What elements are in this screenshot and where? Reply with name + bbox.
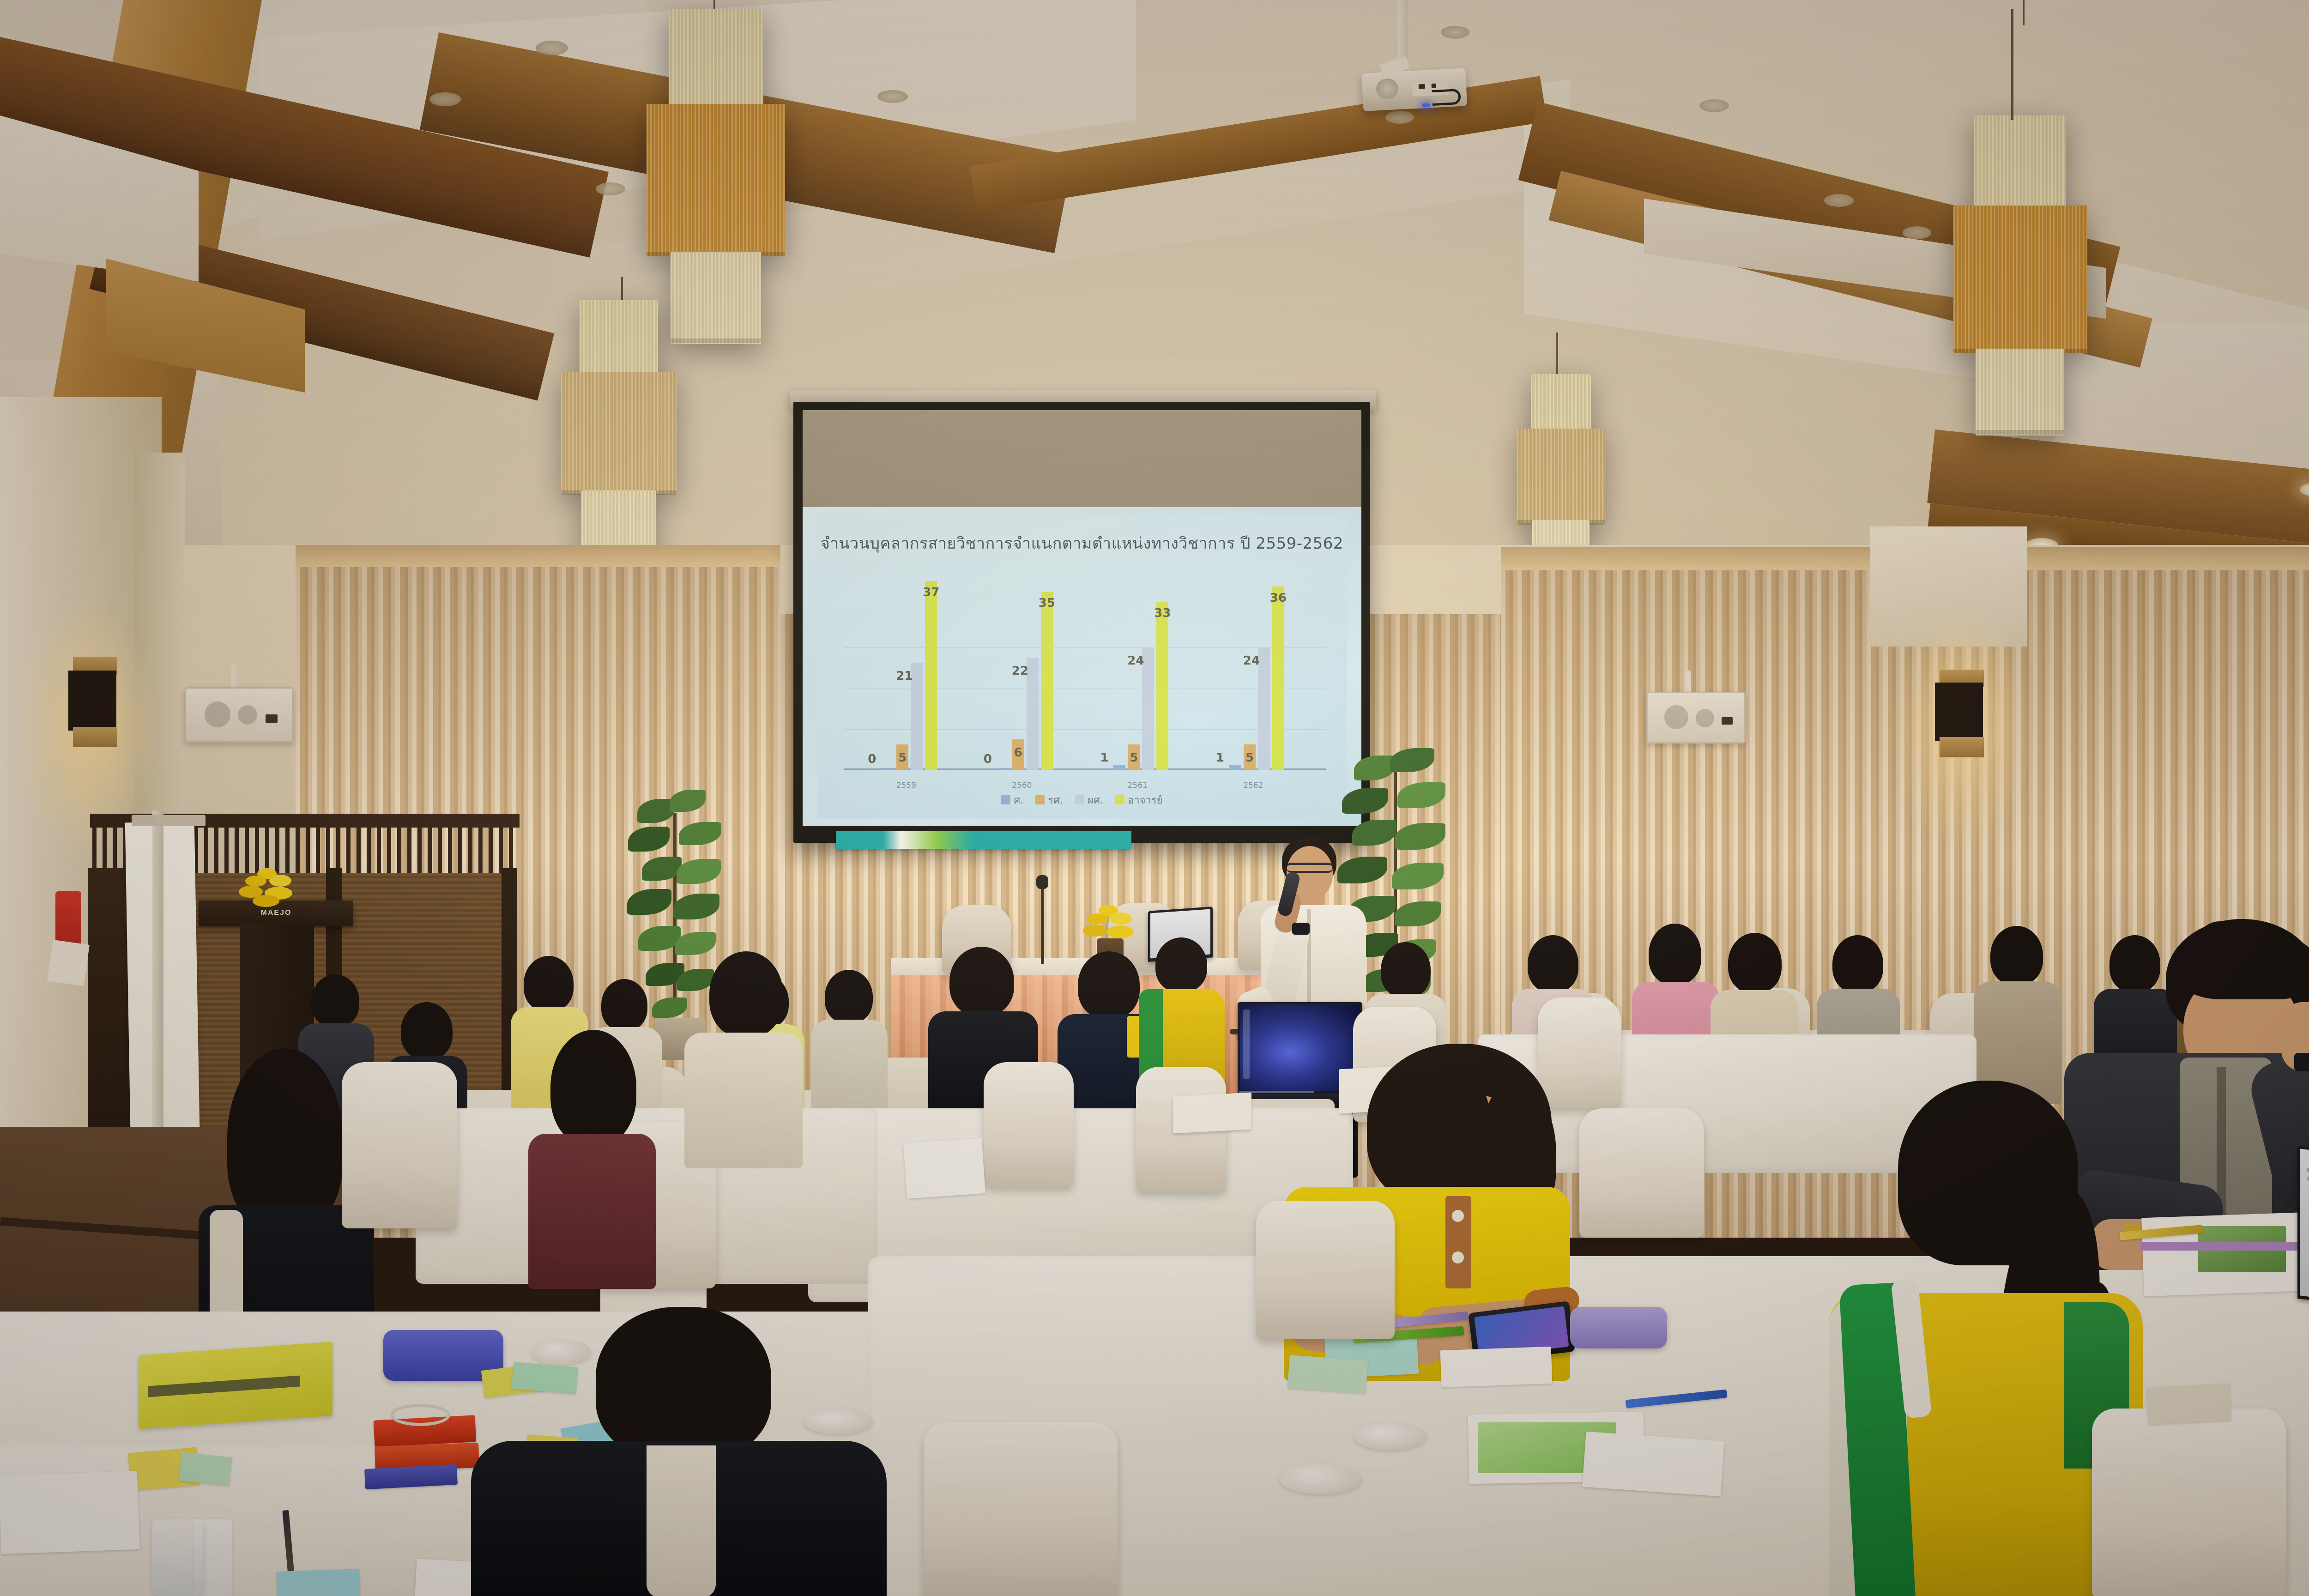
bar-assocprof-2560: 6 xyxy=(1012,739,1024,770)
front-center-shirt xyxy=(647,1445,716,1596)
chair-foreground-2 xyxy=(2092,1409,2286,1596)
audience-person-4 xyxy=(808,970,891,1131)
projected-slide: จำนวนบุคลากรสายวิชาการจำแนกตามตำแหน่งทาง… xyxy=(803,507,1361,826)
bar-lecturer-2561: 33 xyxy=(1156,602,1168,770)
bar-asstprof-2561: 24 xyxy=(1142,647,1154,770)
wall-sconce-left xyxy=(68,657,120,749)
napkin-1 xyxy=(2146,1383,2231,1424)
legend-label-lecturer: อาจารย์ xyxy=(1128,792,1163,808)
legend-swatch-prof xyxy=(1001,795,1010,804)
blouse-button-2 xyxy=(1452,1251,1464,1263)
downlight-4 xyxy=(877,90,908,103)
projector xyxy=(1361,60,1469,116)
bar-group-2559: 0 5 21 37 2559 xyxy=(882,566,937,770)
bar-prof-2562: 1 xyxy=(1229,765,1241,770)
laptop-taskbar-left xyxy=(1243,1010,1250,1079)
purple-case xyxy=(1570,1307,1667,1348)
saucer-4 xyxy=(804,1409,873,1434)
paper-foreground-4 xyxy=(1582,1432,1724,1497)
presenter-wristwatch xyxy=(1292,923,1310,935)
bar-lecturer-2559: 37 xyxy=(925,581,937,770)
wall-notice-paper xyxy=(47,940,90,986)
sticky-note-7 xyxy=(276,1569,361,1596)
bar-group-2562: 1 5 24 36 2562 xyxy=(1229,566,1284,770)
legend-label-asstprof: ผศ. xyxy=(1088,792,1103,808)
laptop-far-right xyxy=(2297,1146,2309,1311)
paper-near-yellow-blouse xyxy=(1440,1347,1553,1387)
pen-holder-ring xyxy=(390,1404,450,1426)
legend-item-asstprof: ผศ. xyxy=(1075,792,1103,808)
legend-swatch-assocprof xyxy=(1035,795,1045,804)
chair-front-left-1 xyxy=(342,1062,457,1228)
bar-prof-2560: 0 xyxy=(998,768,1010,770)
downlight-5 xyxy=(1441,26,1469,39)
bar-lecturer-2560: 35 xyxy=(1041,592,1053,770)
pendant-lamp-3 xyxy=(1953,115,2087,457)
bar-asstprof-2559: 21 xyxy=(911,663,923,770)
front-left-woman-maroon xyxy=(522,1030,660,1288)
podium-flowers xyxy=(237,868,302,910)
chart-plot-area: 0 5 21 37 2559 xyxy=(844,566,1326,770)
front-center-blazer-person xyxy=(471,1307,887,1596)
legend-item-assocprof: รศ. xyxy=(1035,792,1063,808)
slide-canvas: จำนวนบุคลากรสายวิชาการจำแนกตามตำแหน่งทาง… xyxy=(817,514,1347,819)
sticky-note-4 xyxy=(179,1452,232,1486)
bar-asstprof-2560: 22 xyxy=(1027,658,1039,770)
chair-foreground-4 xyxy=(1579,1108,1704,1238)
paper-mid-1 xyxy=(903,1138,985,1199)
chart-legend: ศ. รศ. ผศ. อาจารย์ xyxy=(817,792,1347,808)
downlight-1 xyxy=(536,41,568,55)
saucer-2 xyxy=(1353,1422,1427,1450)
downlight-8 xyxy=(1824,194,1854,207)
pendant-cord-3b xyxy=(2011,9,2013,120)
bar-asstprof-2562: 24 xyxy=(1258,647,1270,770)
audience-person-10 xyxy=(1972,926,2064,1106)
bar-group-2561: 1 5 24 33 2561 xyxy=(1113,566,1168,770)
downlight-7 xyxy=(1699,99,1729,112)
projector-mount-pole xyxy=(1398,0,1408,65)
sticky-note-9 xyxy=(1287,1355,1368,1394)
curtain-left-rail xyxy=(296,545,780,567)
chair-foreground-1 xyxy=(924,1422,1118,1596)
speaker-left-arm xyxy=(231,665,236,688)
table-microphone xyxy=(1036,875,1048,889)
legend-item-lecturer: อาจารย์ xyxy=(1115,792,1163,808)
easel-clamp xyxy=(132,815,206,826)
bar-assocprof-2562: 5 xyxy=(1244,744,1256,770)
chair-foreground-3 xyxy=(1256,1201,1395,1339)
presenter-glasses xyxy=(1287,863,1333,873)
legend-label-prof: ศ. xyxy=(1014,792,1023,808)
legend-swatch-asstprof xyxy=(1075,795,1084,804)
chair-mid-2 xyxy=(984,1062,1074,1187)
bar-prof-2561: 1 xyxy=(1113,765,1125,770)
pendant-cord-4 xyxy=(1556,332,1558,379)
saucer-3 xyxy=(1279,1464,1362,1494)
bar-prof-2559: 0 xyxy=(882,768,894,770)
seminar-room-photo: จำนวนบุคลากรสายวิชาการจำแนกตามตำแหน่งทาง… xyxy=(0,0,2309,1596)
bar-lecturer-2562: 36 xyxy=(1272,586,1284,770)
bar-group-2560: 0 6 22 35 2560 xyxy=(998,566,1053,770)
downlight-9 xyxy=(1903,226,1931,239)
pendant-cord-3 xyxy=(2023,0,2025,25)
legend-swatch-lecturer xyxy=(1115,795,1124,804)
wall-sconce-right xyxy=(1935,670,1987,760)
bar-assocprof-2561: 5 xyxy=(1128,744,1140,770)
blouse-button-1 xyxy=(1452,1210,1464,1222)
stage-banner xyxy=(836,831,1131,849)
name-tent-card-2 xyxy=(1173,1093,1251,1134)
speaker-right-arm xyxy=(1686,671,1691,693)
downlight-3 xyxy=(596,182,625,195)
chart-title: จำนวนบุคลากรสายวิชาการจำแนกตามตำแหน่งทาง… xyxy=(817,531,1347,556)
paper-foreground-2 xyxy=(0,1471,140,1554)
mic-stand xyxy=(1041,881,1044,964)
wristwatch-gray-blazer xyxy=(2294,1053,2309,1071)
water-glass xyxy=(152,1519,203,1596)
screen-non-projected-area xyxy=(803,410,1361,508)
front-left-person-white xyxy=(679,951,808,1168)
projector-screen: จำนวนบุคลากรสายวิชาการจำแนกตามตำแหน่งทาง… xyxy=(793,402,1370,843)
legend-label-assocprof: รศ. xyxy=(1048,792,1063,808)
legend-item-prof: ศ. xyxy=(1001,792,1023,808)
speaker-right xyxy=(1646,692,1746,744)
document-edge-purple xyxy=(2140,1242,2309,1251)
bar-assocprof-2559: 5 xyxy=(896,744,908,770)
downlight-2 xyxy=(429,92,461,106)
speaker-left xyxy=(185,687,293,743)
